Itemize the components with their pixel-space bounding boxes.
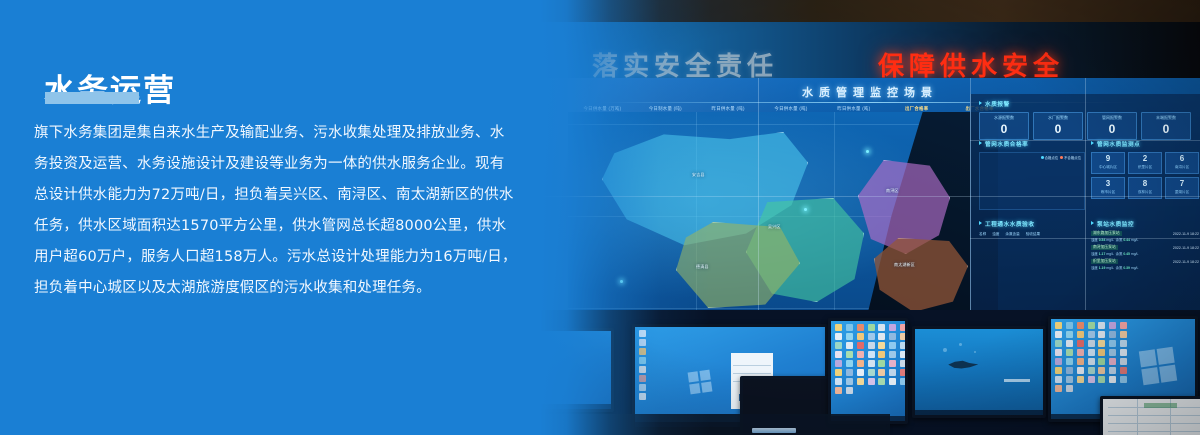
desktop-icon: [639, 339, 646, 346]
points-cell-label: 中心城片区: [1092, 164, 1124, 170]
station-name: 织里加压泵站: [1091, 259, 1118, 264]
station-turbidity-label: 浊度: [1091, 252, 1098, 256]
monitor-screen: [831, 321, 905, 421]
kpi-label: 今日供水量 (吨): [765, 105, 818, 112]
station-log-row: 湖东路加压泵站 2022-11-9 18:22 浊度 0.54 mg/L 余氯 …: [1091, 231, 1199, 242]
points-section: 管网水质监测点 9 中心城片区 2 织里片区 6 南浔片区: [1091, 140, 1199, 199]
map-label: 南浔区: [886, 188, 899, 194]
diver-silhouette: [948, 358, 978, 374]
points-cell-value: 8: [1129, 179, 1161, 189]
station-values: 浊度 1.17 mg/L 余氯 0.45 mg/L: [1091, 251, 1199, 256]
legend-label-pass: 合格点位: [1045, 156, 1059, 160]
desktop-icon: [639, 375, 646, 382]
station-time: 2022-11-9 18:22: [1173, 260, 1199, 264]
monitor-screen: [1103, 399, 1200, 435]
video-wall-seam: [970, 78, 971, 318]
video-wall-seam: [970, 238, 1200, 239]
alarm-card-value: 0: [1088, 121, 1136, 137]
points-cell-label: 菱湖片区: [1166, 189, 1198, 195]
desktop-icon-grid: [639, 330, 648, 400]
map-label: 德清县: [696, 264, 709, 270]
paragraph-line: 任务，供水区域面积达1570平方公里，供水管网总长超8000公里，供水: [34, 211, 546, 242]
map-marker: [866, 150, 869, 153]
station-log-list: 湖东路加压泵站 2022-11-9 18:22 浊度 0.54 mg/L 余氯 …: [1091, 231, 1199, 270]
station-chlorine-label: 余氯: [1116, 266, 1123, 270]
kpi-label: 今日制水量 (吨): [639, 105, 692, 112]
keyboard-glow: [752, 428, 796, 433]
points-cell-label: 练市片区: [1092, 189, 1124, 195]
video-wall-seam: [970, 140, 1200, 141]
desktop-icon: [639, 366, 646, 373]
monitor-underwater: [912, 326, 1046, 418]
taskbar: [915, 410, 1043, 415]
led-banner: 落实安全责任 保障供水安全: [540, 22, 1200, 80]
video-wall-seam: [540, 196, 1200, 197]
paragraph-line: 用户超60万户，服务人口超158万人。污水总设计处理能力为16万吨/日，: [34, 242, 546, 273]
alarm-card: 水厂报警数 0: [1033, 112, 1083, 140]
points-cell-value: 7: [1166, 179, 1198, 189]
station-log-row: 织里加压泵站 2022-11-9 18:22 浊度 1.19 mg/L 余氯 0…: [1091, 259, 1199, 270]
station-turbidity-label: 浊度: [1091, 266, 1098, 270]
points-cell: 9 中心城片区: [1091, 152, 1125, 174]
desktop-icon: [639, 357, 646, 364]
description-paragraph: 旗下水务集团是集自来水生产及输配业务、污水收集处理及排放业务、水 务投资及运营、…: [34, 118, 546, 304]
station-turbidity-value: 1.17: [1099, 252, 1106, 256]
desktop-icon: [639, 330, 646, 337]
caption-bar: [1004, 379, 1030, 382]
video-wall-seam: [758, 78, 759, 318]
kpi-label: 昨日供水量 (吨): [702, 105, 755, 112]
video-wall-seam: [1085, 78, 1086, 318]
acceptance-col-turbidity: 浊度: [992, 232, 999, 237]
station-chlorine-value: 0.45: [1123, 252, 1130, 256]
monitor-spreadsheet: [1100, 396, 1200, 435]
map-label: 吴兴区: [768, 224, 781, 230]
rate-chart: 合格点位 不合格点位: [979, 152, 1085, 210]
legend-label-fail: 不合格点位: [1064, 156, 1081, 160]
points-section-title: 管网水质监测点: [1091, 140, 1199, 148]
alarm-card: 水源报警数 0: [979, 112, 1029, 140]
paragraph-line: 旗下水务集团是集自来水生产及输配业务、污水收集处理及排放业务、水: [34, 118, 546, 149]
points-cell-value: 6: [1166, 154, 1198, 164]
rate-section: 管网水质合格率 合格点位 不合格点位: [979, 140, 1085, 210]
points-cell-value: 9: [1092, 154, 1124, 164]
station-turbidity-unit: mg/L: [1106, 266, 1113, 270]
acceptance-col-chlorine: 余氯含量: [1005, 232, 1019, 237]
control-room-photo: 落实安全责任 保障供水安全 水质管理监控场景 今日供水量 (万吨) 今日制水量 …: [540, 0, 1200, 435]
map-marker: [620, 280, 623, 283]
points-cell-value: 2: [1129, 154, 1161, 164]
alarm-card: 管网报警数 0: [1087, 112, 1137, 140]
acceptance-col-result: 验收结果: [1026, 232, 1040, 237]
video-wall: 水质管理监控场景 今日供水量 (万吨) 今日制水量 (吨) 昨日供水量 (吨) …: [540, 78, 1200, 318]
points-cell: 2 织里片区: [1128, 152, 1162, 174]
kpi-label: 出厂合格率: [890, 105, 943, 112]
windows-logo-icon: [1139, 347, 1177, 385]
station-chlorine-unit: mg/L: [1131, 252, 1139, 256]
rate-section-title: 管网水质合格率: [979, 140, 1085, 148]
rate-chart-legend: 合格点位 不合格点位: [1041, 155, 1081, 160]
points-cell-label: 南浔片区: [1166, 164, 1198, 170]
paragraph-line: 务投资及运营、水务设施设计及建设等业务为一体的供水服务企业。现有: [34, 149, 546, 180]
station-name: 南浔加压泵站: [1091, 245, 1118, 250]
desktop-icon: [639, 393, 646, 400]
station-chlorine-label: 余氯: [1116, 252, 1123, 256]
station-turbidity-unit: mg/L: [1106, 252, 1113, 256]
desktop-icon: [639, 384, 646, 391]
station-section-title: 泵站水质监控: [1091, 220, 1199, 228]
kpi-label: 昨日供水量 (吨): [827, 105, 880, 112]
station-time: 2022-11-9 18:22: [1173, 246, 1199, 250]
paragraph-line: 担负着中心城区以及太湖旅游度假区的污水收集和处理任务。: [34, 273, 546, 304]
district-map: 安吉县 吴兴区 德清县 南浔区 南太湖新区: [568, 112, 998, 312]
map-label: 南太湖新区: [894, 262, 915, 268]
acceptance-col-name: 名称: [979, 232, 986, 237]
desktop-icon-grid: [1055, 322, 1129, 392]
paragraph-line: 总设计供水能力为72万吨/日，担负着吴兴区、南浔区、南太湖新区的供水: [34, 180, 546, 211]
monitor-icons: [828, 318, 908, 424]
text-panel: 水务运营 旗下水务集团是集自来水生产及输配业务、污水收集处理及排放业务、水 务投…: [0, 0, 600, 435]
alarm-card-value: 0: [1142, 121, 1190, 137]
points-cell: 6 南浔片区: [1165, 152, 1199, 174]
points-grid: 9 中心城片区 2 织里片区 6 南浔片区 3: [1091, 152, 1199, 199]
station-values: 浊度 1.19 mg/L 余氯 0.39 mg/L: [1091, 265, 1199, 270]
alarm-card: 末端报警数 0: [1141, 112, 1191, 140]
station-log-row: 南浔加压泵站 2022-11-9 18:22 浊度 1.17 mg/L 余氯 0…: [1091, 245, 1199, 256]
hero-banner: 落实安全责任 保障供水安全 水质管理监控场景 今日供水量 (万吨) 今日制水量 …: [0, 0, 1200, 435]
station-log-header: 湖东路加压泵站 2022-11-9 18:22: [1091, 231, 1199, 236]
acceptance-table-header: 名称 浊度 余氯含量 验收结果: [979, 232, 1040, 237]
station-time: 2022-11-9 18:22: [1173, 232, 1199, 236]
station-chlorine-unit: mg/L: [1131, 266, 1139, 270]
acceptance-section: 工程通水水质验收 名称 浊度 余氯含量 验收结果: [979, 220, 1040, 237]
map-label: 安吉县: [692, 172, 705, 178]
title-underline: [45, 92, 139, 104]
points-cell-label: 织里片区: [1129, 164, 1161, 170]
station-turbidity-value: 1.19: [1099, 266, 1106, 270]
points-cell-label: 双林片区: [1129, 189, 1161, 195]
desktop-icon: [639, 348, 646, 355]
legend-swatch-fail: [1060, 156, 1063, 159]
map-marker: [804, 208, 807, 211]
station-log-header: 织里加压泵站 2022-11-9 18:22: [1091, 259, 1199, 264]
ceiling-strip: [540, 0, 1200, 22]
windows-logo-icon: [688, 370, 713, 395]
alarm-card-value: 0: [1034, 121, 1082, 137]
acceptance-section-title: 工程通水水质验收: [979, 220, 1040, 228]
points-cell-value: 3: [1092, 179, 1124, 189]
desktop-icon-grid: [835, 324, 908, 394]
alarm-card-value: 0: [980, 121, 1028, 137]
legend-swatch-pass: [1041, 156, 1044, 159]
monitor-screen: [915, 329, 1043, 415]
station-section: 泵站水质监控 湖东路加压泵站 2022-11-9 18:22 浊度 0.54 m…: [1091, 220, 1199, 273]
station-log-header: 南浔加压泵站 2022-11-9 18:22: [1091, 245, 1199, 250]
workstation-row: [540, 310, 1200, 435]
station-chlorine-value: 0.39: [1123, 266, 1130, 270]
station-name: 湖东路加压泵站: [1091, 231, 1122, 236]
